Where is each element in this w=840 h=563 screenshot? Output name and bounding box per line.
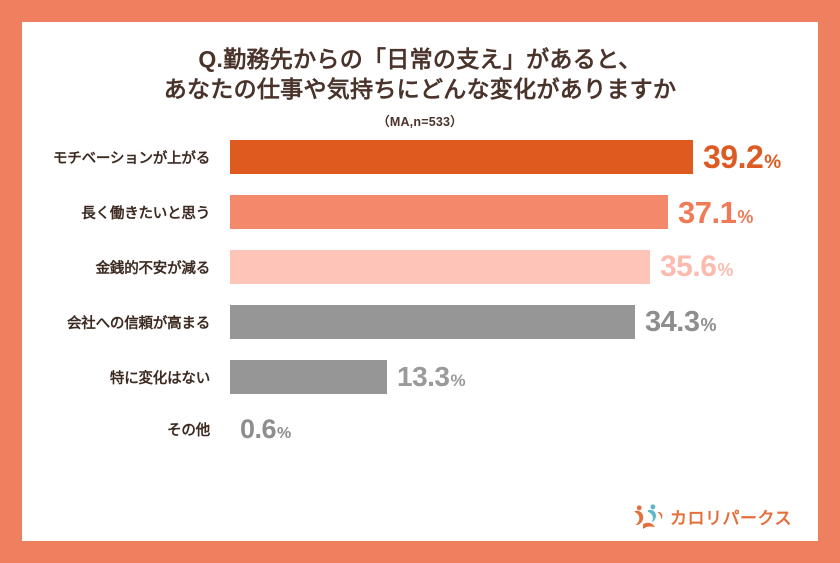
horizontal-bar-chart: モチベーションが上がる 39.2 % 長く働きたいと思う 37.1 % [22,140,818,470]
bar [230,140,693,174]
bar-value-label: 37.1 % [678,197,753,228]
percent-sign: % [764,153,781,172]
brand-logo[interactable]: カロリパークス [633,503,792,529]
bar [230,250,650,284]
bar [230,360,387,394]
bar-value-number: 0.6 [240,416,276,443]
chart-row: 金銭的不安が減る 35.6 % [22,250,818,284]
bar-value-number: 13.3 [397,363,450,391]
bar-zone: 37.1 % [230,195,753,229]
bar-value-label: 35.6 % [660,252,733,282]
page-title-line-1: Q.勤務先からの「日常の支え」があると、 [22,44,818,74]
bar-value-label: 13.3 % [397,363,466,391]
chart-row: 特に変化はない 13.3 % [22,360,818,394]
percent-sign: % [700,316,716,334]
brand-name: カロリパークス [670,504,792,529]
bar-zone: 13.3 % [230,360,466,394]
bar-value-number: 35.6 [660,252,716,282]
bar [230,195,668,229]
percent-sign: % [737,208,753,226]
chart-row: その他 0.6 % [22,412,818,446]
category-label: 長く働きたいと思う [22,202,222,223]
bar-value-label: 39.2 % [703,141,781,173]
bar-value-label: 34.3 % [645,308,716,337]
category-label: 会社への信頼が高まる [22,312,222,333]
percent-sign: % [451,372,466,389]
person-jumping-icon [633,503,663,529]
percent-sign: % [717,261,733,279]
page-title-line-2: あなたの仕事や気持ちにどんな変化がありますか [22,74,818,104]
chart-card: Q.勤務先からの「日常の支え」があると、 あなたの仕事や気持ちにどんな変化があり… [22,22,818,541]
category-label: 特に変化はない [22,367,222,388]
infographic-frame: Q.勤務先からの「日常の支え」があると、 あなたの仕事や気持ちにどんな変化があり… [0,0,840,563]
title-block: Q.勤務先からの「日常の支え」があると、 あなたの仕事や気持ちにどんな変化があり… [22,44,818,130]
sample-size-note: （MA,n=533） [22,111,818,130]
chart-row: 会社への信頼が高まる 34.3 % [22,305,818,339]
bar-value-label: 0.6 % [240,416,291,443]
bar-value-number: 34.3 [645,308,699,337]
category-label: 金銭的不安が減る [22,257,222,278]
chart-row: 長く働きたいと思う 37.1 % [22,195,818,229]
bar [230,305,635,339]
bar-zone: 35.6 % [230,250,733,284]
bar-zone: 0.6 % [230,412,291,446]
bar-zone: 39.2 % [230,140,781,174]
category-label: モチベーションが上がる [22,147,222,168]
chart-row: モチベーションが上がる 39.2 % [22,140,818,174]
bar-value-number: 37.1 [678,197,736,228]
bar-value-number: 39.2 [703,141,763,173]
category-label: その他 [22,419,222,440]
percent-sign: % [277,426,291,442]
bar-zone: 34.3 % [230,305,716,339]
